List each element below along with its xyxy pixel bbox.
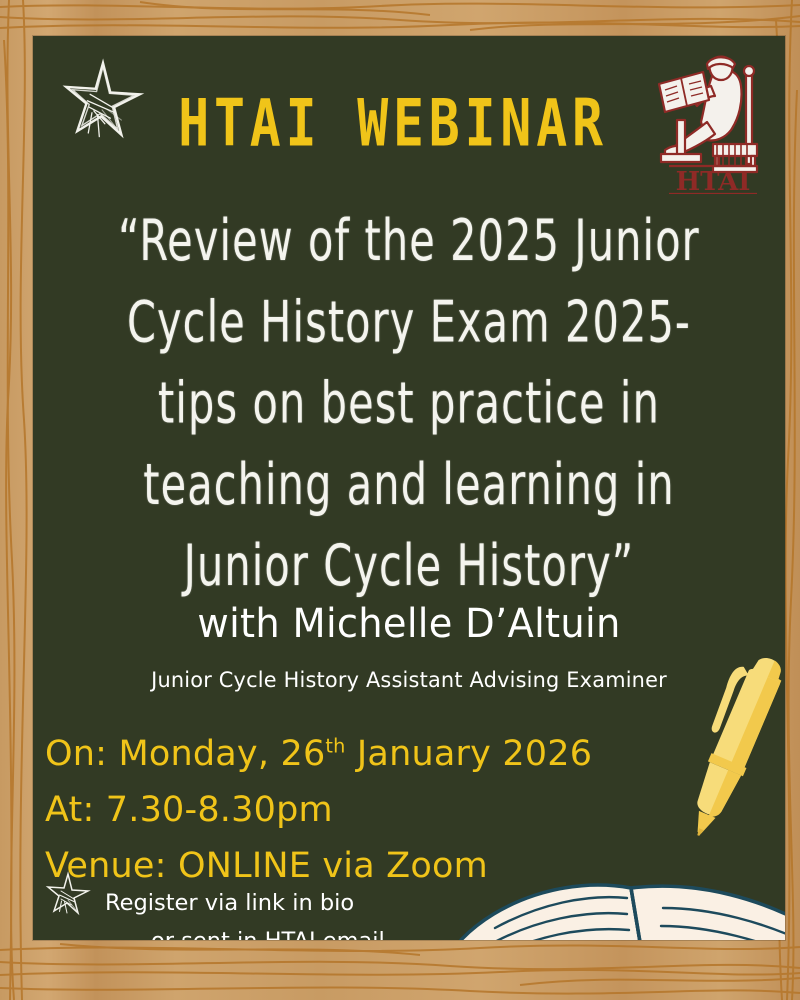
title-line: Junior Cycle History” [69,526,750,607]
register-line-2: or sent in HTAI email [105,922,385,940]
speaker-name: with Michelle D’Altuin [48,601,770,647]
poster-header: HTAI WEBINAR [33,44,785,194]
date-ordinal-suffix: th [325,734,345,757]
poster-root: HTAI WEBINAR [0,0,800,1000]
title-line: Cycle History Exam 2025- [69,282,750,363]
chalkboard: HTAI WEBINAR [33,36,785,940]
event-detail-date: On: Monday, 26th January 2026 [45,726,592,782]
event-details: On: Monday, 26th January 2026 At: 7.30-8… [45,726,592,894]
htai-logo-icon: HTAI [653,44,773,194]
title-line: teaching and learning in [69,445,750,526]
htai-logo-text: HTAI [676,167,751,194]
registration-info: Register via link in bio or sent in HTAI… [105,884,385,940]
webinar-title-block: “Review of the 2025 Junior Cycle History… [69,201,750,607]
register-line-1: Register via link in bio [105,884,385,922]
event-detail-time: At: 7.30-8.30pm [45,782,592,838]
chalk-star-icon [43,868,93,918]
title-line: tips on best practice in [69,363,750,444]
speaker-role: Junior Cycle History Assistant Advising … [44,668,773,693]
webinar-heading: HTAI WEBINAR [151,92,636,157]
title-line: “Review of the 2025 Junior [69,201,750,282]
chalk-star-icon [57,52,149,144]
